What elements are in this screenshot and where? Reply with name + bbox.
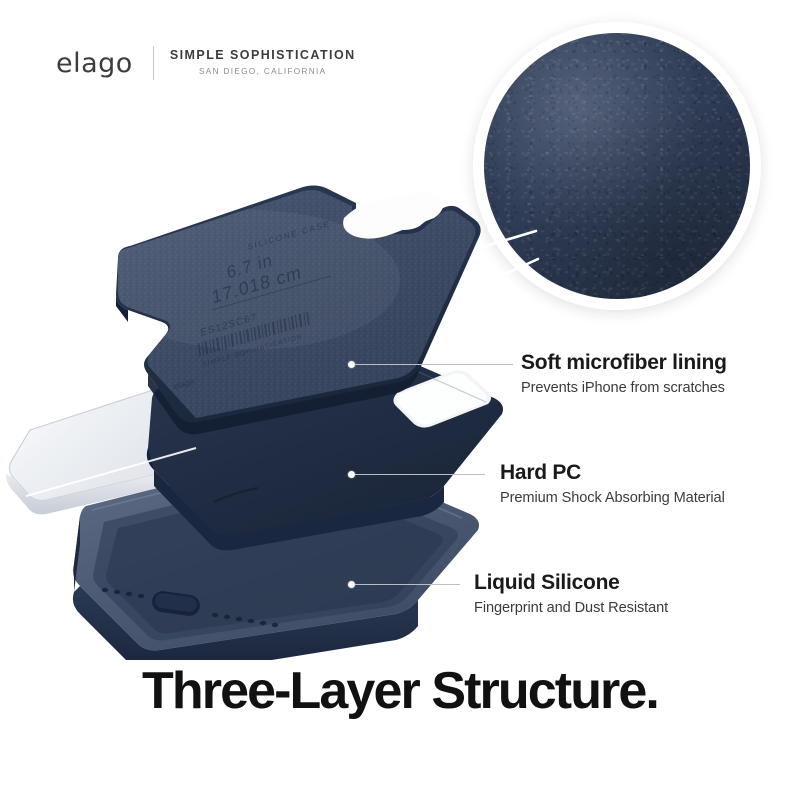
callout-title-2: Hard PC [500, 462, 581, 483]
brand-tagline-block: SIMPLE SOPHISTICATION SAN DIEGO, CALIFOR… [170, 48, 356, 77]
callout-title-3: Liquid Silicone [474, 572, 620, 593]
callout-dot-3 [348, 581, 355, 588]
callout-subtitle-2: Premium Shock Absorbing Material [500, 491, 725, 506]
callout-title-1: Soft microfiber lining [521, 352, 727, 373]
brand-location: SAN DIEGO, CALIFORNIA [170, 67, 356, 78]
brand-divider [153, 46, 154, 80]
brand-lockup: elago SIMPLE SOPHISTICATION SAN DIEGO, C… [56, 44, 356, 82]
headline: Three-Layer Structure. [0, 665, 800, 717]
infographic-canvas: elago SIMPLE SOPHISTICATION SAN DIEGO, C… [0, 0, 800, 800]
callout-subtitle-3: Fingerprint and Dust Resistant [474, 601, 668, 616]
callout-line-2 [355, 474, 485, 475]
callout-subtitle-1: Prevents iPhone from scratches [521, 381, 725, 396]
brand-tagline: SIMPLE SOPHISTICATION [170, 48, 356, 64]
elago-logo: elago [56, 50, 133, 77]
exploded-case-illustration: SILICONE CASE 6.7 in 17.018 cm ES12SC67 [0, 130, 540, 660]
callout-dot-2 [348, 471, 355, 478]
callout-line-3 [355, 584, 460, 585]
callout-line-1 [355, 364, 513, 365]
callout-dot-1 [348, 361, 355, 368]
